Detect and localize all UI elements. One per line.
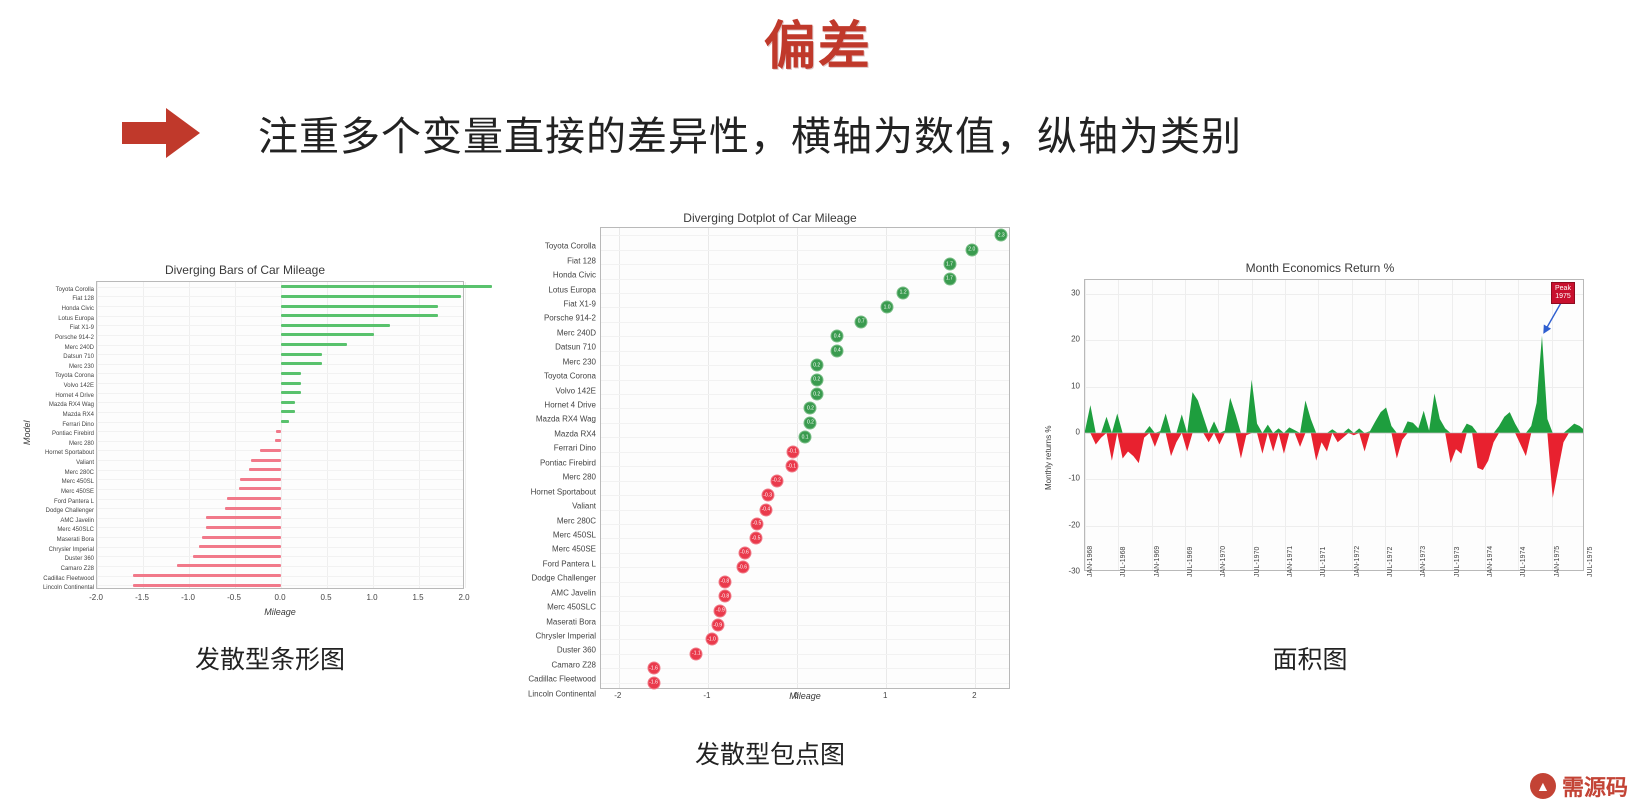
data-point: 1.0	[881, 301, 894, 314]
y-tick-label: -20	[1044, 520, 1080, 529]
category-label: Chrysler Imperial	[500, 632, 596, 641]
gridline	[601, 495, 1009, 496]
panel-diverging-bars: Diverging Bars of Car Mileage Model Toyo…	[10, 255, 480, 685]
category-label: Duster 360	[22, 556, 94, 562]
subtitle-text: 注重多个变量直接的差异性，横轴为数值，纵轴为类别	[258, 104, 1242, 162]
category-label: Cadillac Fleetwood	[500, 675, 596, 684]
data-point: -0.5	[750, 532, 763, 545]
category-label: Mazda RX4 Wag	[500, 415, 596, 424]
x-tick-label: -1.5	[135, 593, 149, 602]
x-tick-label: JUL-1974	[1520, 547, 1527, 577]
category-label: Ferrari Dino	[500, 444, 596, 453]
category-label: Camaro Z28	[22, 566, 94, 572]
bar	[177, 564, 281, 567]
axis-label-x-dots: Mileage	[600, 691, 1010, 701]
data-point: -0.3	[761, 489, 774, 502]
y-tick-label: 30	[1044, 288, 1080, 297]
data-point: -0.8	[718, 590, 731, 603]
gridline	[601, 611, 1009, 612]
data-point: -0.2	[770, 474, 783, 487]
x-tick-label: -1.0	[181, 593, 195, 602]
category-label: Valiant	[22, 460, 94, 466]
gridline	[601, 625, 1009, 626]
bar	[281, 324, 390, 327]
data-point: 0.2	[810, 373, 823, 386]
category-label: Fiat X1-9	[500, 299, 596, 308]
x-tick-label: JAN-1968	[1087, 546, 1094, 577]
gridline	[797, 228, 798, 688]
gridline	[601, 510, 1009, 511]
x-tick-label: 0.5	[320, 593, 331, 602]
gridline	[601, 567, 1009, 568]
caption-left: 发散型条形图	[120, 640, 420, 676]
bar	[281, 333, 374, 336]
gridline	[601, 639, 1009, 640]
gridline	[281, 282, 282, 588]
gridline	[601, 596, 1009, 597]
right-arrow-icon	[120, 106, 202, 160]
gridline	[97, 364, 463, 365]
bar	[249, 468, 281, 471]
x-tick-label: 1.5	[412, 593, 423, 602]
gridline	[975, 228, 976, 688]
data-point: 0.7	[855, 315, 868, 328]
gridline	[97, 354, 463, 355]
chart-plot-area-bars	[96, 281, 464, 589]
gridline	[419, 282, 420, 588]
category-label: Fiat 128	[22, 296, 94, 302]
bar	[206, 516, 281, 519]
data-point: -0.9	[714, 604, 727, 617]
data-point: -0.4	[759, 503, 772, 516]
area-positive	[1085, 336, 1584, 433]
gridline	[601, 293, 1009, 294]
gridline	[601, 466, 1009, 467]
gridline	[97, 373, 463, 374]
category-label: Merc 450SLC	[500, 603, 596, 612]
data-point: -1.6	[647, 662, 660, 675]
category-label: AMC Javelin	[500, 588, 596, 597]
bar	[275, 439, 281, 442]
data-point: -0.6	[738, 546, 751, 559]
x-tick-label: JAN-1975	[1554, 546, 1561, 577]
gridline	[373, 282, 374, 588]
bar	[281, 391, 301, 394]
gridline	[601, 481, 1009, 482]
category-label: Merc 280	[22, 441, 94, 447]
category-label: Volvo 142E	[500, 386, 596, 395]
gridline	[619, 228, 620, 688]
data-point: 0.1	[799, 431, 812, 444]
x-tick-label: JUL-1969	[1187, 547, 1194, 577]
category-label: Toyota Corona	[500, 372, 596, 381]
x-tick-label: JAN-1973	[1420, 546, 1427, 577]
caption-right: 面积图	[1160, 640, 1460, 676]
bar	[281, 295, 461, 298]
bar	[239, 487, 281, 490]
gridline	[601, 380, 1009, 381]
category-label: Merc 450SL	[22, 479, 94, 485]
x-tick-label: JAN-1972	[1354, 546, 1361, 577]
y-tick-label: -10	[1044, 474, 1080, 483]
data-point: -1.1	[690, 647, 703, 660]
data-point: 0.4	[831, 344, 844, 357]
category-label: Ford Pantera L	[22, 499, 94, 505]
category-label: Mazda RX4	[500, 429, 596, 438]
category-label: Pontiac Firebird	[500, 458, 596, 467]
category-label: Fiat 128	[500, 256, 596, 265]
x-tick-label: -0.5	[227, 593, 241, 602]
x-tick-label: -2.0	[89, 593, 103, 602]
data-point: 1.7	[943, 258, 956, 271]
category-label: Dodge Challenger	[500, 574, 596, 583]
category-label: Merc 280C	[500, 516, 596, 525]
data-point: 2.0	[965, 243, 978, 256]
category-label: Fiat X1-9	[22, 325, 94, 331]
bar	[281, 285, 492, 288]
category-label: Datsun 710	[500, 343, 596, 352]
category-label: Mazda RX4 Wag	[22, 402, 94, 408]
watermark: ▲ 需源码	[1530, 770, 1628, 802]
gridline	[601, 654, 1009, 655]
axis-label-x-bars: Mileage	[96, 607, 464, 617]
category-label: Lincoln Continental	[22, 585, 94, 591]
data-point: -0.1	[785, 460, 798, 473]
x-tick-label: 1.0	[366, 593, 377, 602]
gridline	[601, 250, 1009, 251]
bar	[225, 507, 281, 510]
category-label: Hornet 4 Drive	[22, 393, 94, 399]
gridline	[189, 282, 190, 588]
category-label: Camaro Z28	[500, 660, 596, 669]
category-label: Toyota Corolla	[22, 287, 94, 293]
bar	[240, 478, 281, 481]
gridline	[97, 393, 463, 394]
gridline	[601, 394, 1009, 395]
bar	[251, 459, 281, 462]
panel-area-chart: Month Economics Return % Monthly returns…	[1030, 255, 1610, 655]
category-label: Ferrari Dino	[22, 422, 94, 428]
bar	[281, 305, 438, 308]
chart-title-bars: Diverging Bars of Car Mileage	[10, 263, 480, 277]
x-tick-label: JUL-1975	[1587, 547, 1594, 577]
data-point: -1.6	[647, 676, 660, 689]
gridline	[601, 683, 1009, 684]
category-label: Toyota Corolla	[500, 242, 596, 251]
category-label: Merc 450SL	[500, 530, 596, 539]
x-tick-label: JAN-1970	[1220, 546, 1227, 577]
data-point: 0.2	[810, 359, 823, 372]
watermark-text: 需源码	[1562, 770, 1628, 802]
category-label: Merc 450SE	[22, 489, 94, 495]
category-label: Lincoln Continental	[500, 689, 596, 698]
peak-annotation-badge: Peak 1975	[1551, 282, 1575, 304]
data-point: -1.0	[705, 633, 718, 646]
bar	[206, 526, 281, 529]
category-label: Lotus Europa	[22, 316, 94, 322]
gridline	[601, 524, 1009, 525]
gridline	[601, 307, 1009, 308]
chart-plot-area-dots: 2.32.01.71.71.21.00.70.40.40.20.20.20.20…	[600, 227, 1010, 689]
category-label: Mazda RX4	[22, 412, 94, 418]
category-label: Honda Civic	[500, 271, 596, 280]
x-tick-label: 0.0	[274, 593, 285, 602]
bar	[281, 372, 301, 375]
gridline	[97, 383, 463, 384]
area-negative	[1090, 433, 1568, 498]
gridline	[601, 235, 1009, 236]
data-point: -0.6	[736, 561, 749, 574]
bar	[199, 545, 281, 548]
bar	[281, 353, 322, 356]
gridline	[601, 351, 1009, 352]
dotplot-category-labels: Toyota CorollaFiat 128Honda CivicLotus E…	[500, 239, 596, 679]
area-series	[1085, 280, 1584, 571]
bar	[281, 382, 301, 385]
category-label: Merc 240D	[500, 328, 596, 337]
data-point: -0.1	[786, 445, 799, 458]
bar	[193, 555, 281, 558]
caption-middle: 发散型包点图	[620, 735, 920, 771]
data-point: -0.8	[718, 575, 731, 588]
bar	[227, 497, 281, 500]
data-point: 0.4	[831, 330, 844, 343]
x-tick-label: JUL-1972	[1387, 547, 1394, 577]
panel-diverging-dotplot: Diverging Dotplot of Car Mileage Toyota …	[500, 205, 1030, 705]
gridline	[97, 422, 463, 423]
gridline	[97, 345, 463, 346]
gridline	[601, 336, 1009, 337]
category-label: Merc 450SE	[500, 545, 596, 554]
x-tick-label: JUL-1970	[1254, 547, 1261, 577]
data-point: 1.2	[897, 286, 910, 299]
x-tick-label: JUL-1971	[1320, 547, 1327, 577]
category-label: Merc 450SLC	[22, 527, 94, 533]
data-point: 0.2	[804, 402, 817, 415]
category-label: Duster 360	[500, 646, 596, 655]
category-label: Merc 230	[22, 364, 94, 370]
x-tick-label: JAN-1969	[1154, 546, 1161, 577]
chart-title-area: Month Economics Return %	[1030, 261, 1610, 275]
x-tick-label: JAN-1974	[1487, 546, 1494, 577]
category-label: Lotus Europa	[500, 285, 596, 294]
category-label: Datsun 710	[22, 354, 94, 360]
gridline	[601, 452, 1009, 453]
bar	[281, 362, 322, 365]
gridline	[601, 538, 1009, 539]
category-label: Hornet 4 Drive	[500, 401, 596, 410]
category-label: Maserati Bora	[22, 537, 94, 543]
category-label: AMC Javelin	[22, 518, 94, 524]
watermark-logo-icon: ▲	[1530, 773, 1556, 799]
category-label: Maserati Bora	[500, 617, 596, 626]
bar	[281, 343, 347, 346]
x-tick-label: JUL-1973	[1454, 547, 1461, 577]
gridline	[97, 335, 463, 336]
y-tick-label: -30	[1044, 567, 1080, 576]
gridline	[97, 402, 463, 403]
gridline	[601, 553, 1009, 554]
y-tick-label: 20	[1044, 335, 1080, 344]
bar	[276, 430, 281, 433]
gridline	[97, 282, 98, 588]
category-label: Toyota Corona	[22, 373, 94, 379]
gridline	[601, 322, 1009, 323]
gridline	[327, 282, 328, 588]
gridline	[97, 412, 463, 413]
category-label: Valiant	[500, 502, 596, 511]
category-label: Volvo 142E	[22, 383, 94, 389]
x-tick-label: 2.0	[458, 593, 469, 602]
bar	[133, 584, 281, 587]
y-tick-label: 10	[1044, 381, 1080, 390]
category-label: Merc 240D	[22, 345, 94, 351]
category-label: Hornet Sportabout	[22, 450, 94, 456]
bar	[281, 314, 438, 317]
data-point: 1.7	[943, 272, 956, 285]
gridline	[708, 228, 709, 688]
category-label: Porsche 914-2	[500, 314, 596, 323]
gridline	[235, 282, 236, 588]
gridline	[143, 282, 144, 588]
gridline	[601, 365, 1009, 366]
bars-category-labels: Toyota CorollaFiat 128Honda CivicLotus E…	[22, 285, 94, 585]
bar	[281, 420, 289, 423]
category-label: Honda Civic	[22, 306, 94, 312]
category-label: Merc 280C	[22, 470, 94, 476]
data-point: 0.2	[810, 388, 823, 401]
area-x-tick-labels: JAN-1968JUL-1968JAN-1969JUL-1969JAN-1970…	[1084, 575, 1584, 645]
category-label: Cadillac Fleetwood	[22, 576, 94, 582]
category-label: Hornet Sportabout	[500, 487, 596, 496]
chart-title-dots: Diverging Dotplot of Car Mileage	[540, 211, 1000, 225]
gridline	[465, 282, 466, 588]
category-label: Ford Pantera L	[500, 559, 596, 568]
gridline	[97, 325, 463, 326]
data-point: -0.9	[711, 619, 724, 632]
data-point: 2.3	[995, 229, 1008, 242]
gridline	[601, 582, 1009, 583]
subtitle-row: 注重多个变量直接的差异性，横轴为数值，纵轴为类别	[120, 104, 1570, 162]
x-tick-label: JUL-1968	[1120, 547, 1127, 577]
bar	[202, 536, 281, 539]
category-label: Chrysler Imperial	[22, 547, 94, 553]
category-label: Porsche 914-2	[22, 335, 94, 341]
area-y-tick-labels: 3020100-10-20-30	[1044, 279, 1080, 571]
bar	[281, 410, 295, 413]
category-label: Merc 230	[500, 357, 596, 366]
gridline	[601, 668, 1009, 669]
page-title: 偏差	[0, 4, 1636, 79]
y-tick-label: 0	[1044, 427, 1080, 436]
x-tick-label: JAN-1971	[1287, 546, 1294, 577]
bar	[260, 449, 281, 452]
category-label: Pontiac Firebird	[22, 431, 94, 437]
chart-plot-area-area: Peak 1975	[1084, 279, 1584, 571]
data-point: -0.5	[750, 517, 763, 530]
bar	[133, 574, 281, 577]
category-label: Merc 280	[500, 473, 596, 482]
gridline	[886, 228, 887, 688]
data-point: 0.2	[804, 416, 817, 429]
bar	[281, 401, 295, 404]
category-label: Dodge Challenger	[22, 508, 94, 514]
